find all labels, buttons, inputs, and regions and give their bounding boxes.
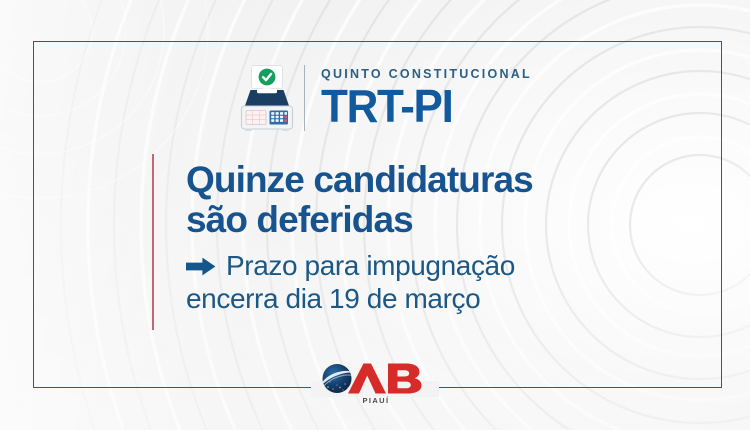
poster-canvas: QUINTO CONSTITUCIONAL TRT-PI Quinze cand…	[0, 0, 750, 430]
oab-logo: PIAUÍ	[318, 362, 434, 408]
lockup-text: QUINTO CONSTITUCIONAL TRT-PI	[321, 68, 532, 128]
oab-logo-mark	[318, 362, 434, 395]
subline-block: Prazo para impugnaçãoencerra dia 19 de m…	[186, 250, 706, 315]
lockup-kicker: QUINTO CONSTITUCIONAL	[321, 68, 532, 81]
subline-line-2: encerra dia 19 de março	[186, 283, 706, 315]
ballot-box-check-icon	[234, 64, 300, 132]
arrow-right-icon	[186, 257, 216, 276]
subline-text: Prazo para impugnaçãoencerra dia 19 de m…	[186, 250, 706, 315]
message-block: Quinze candidaturas são deferidas Prazo …	[186, 160, 706, 315]
oab-logo-state: PIAUÍ	[318, 396, 434, 405]
headline: Quinze candidaturas são deferidas	[186, 160, 706, 239]
subline-line-1: Prazo para impugnação	[226, 250, 515, 281]
lockup-divider	[304, 65, 305, 131]
red-accent-bar	[152, 154, 154, 330]
brand-lockup: QUINTO CONSTITUCIONAL TRT-PI	[234, 64, 532, 132]
lockup-wordmark: TRT-PI	[321, 84, 532, 131]
